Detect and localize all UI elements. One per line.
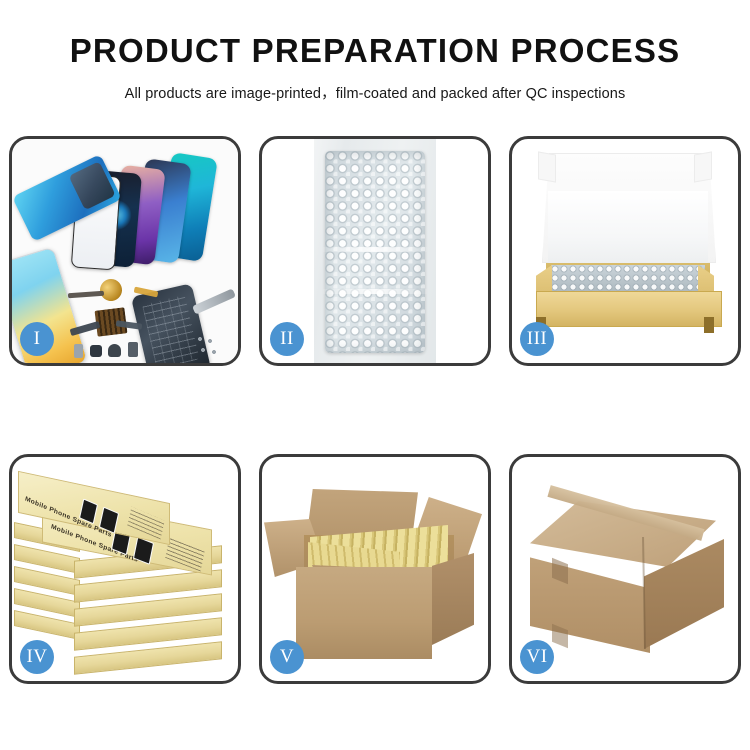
wrap-seam-upper (323, 247, 427, 252)
small-part-4-icon (128, 342, 138, 357)
step-badge-4: IV (20, 640, 54, 674)
process-step-panel-4[interactable]: Mobile Phone Spare Parts Mobile Phone Sp… (9, 454, 241, 684)
sealed-carton-front (530, 549, 650, 653)
small-part-2-icon (90, 345, 102, 357)
process-step-panel-6[interactable]: VI (509, 454, 741, 684)
page-header: PRODUCT PREPARATION PROCESS All products… (0, 0, 750, 103)
page-title: PRODUCT PREPARATION PROCESS (0, 34, 750, 67)
kraft-box-front-icon (536, 291, 722, 327)
box-corner-right (704, 317, 714, 333)
process-step-panel-1[interactable]: I (9, 136, 241, 366)
step-badge-6: VI (520, 640, 554, 674)
wrap-seam-lower (323, 289, 427, 294)
box-spec-lines-front (165, 537, 205, 572)
step-badge-2: II (270, 322, 304, 356)
carton-body-side (432, 553, 474, 645)
process-step-panel-3[interactable]: III (509, 136, 741, 366)
box-lid-tab-right (694, 151, 712, 182)
step-badge-5: V (270, 640, 304, 674)
page-subtitle: All products are image-printed，film-coat… (0, 82, 750, 103)
process-step-grid: I II III (9, 136, 741, 684)
step-badge-1: I (20, 322, 54, 356)
small-part-1-icon (74, 344, 83, 358)
box-lid-tab-left (538, 151, 556, 182)
process-step-panel-5[interactable]: V (259, 454, 491, 684)
foam-lining-icon (548, 191, 708, 267)
screws-icon (196, 335, 222, 361)
process-step-panel-2[interactable]: II (259, 136, 491, 366)
bubble-wrap-icon (325, 151, 425, 353)
carton-body-front (296, 567, 432, 659)
box-spec-lines-back (127, 507, 164, 540)
step-badge-3: III (520, 322, 554, 356)
small-part-3-icon (108, 344, 121, 357)
